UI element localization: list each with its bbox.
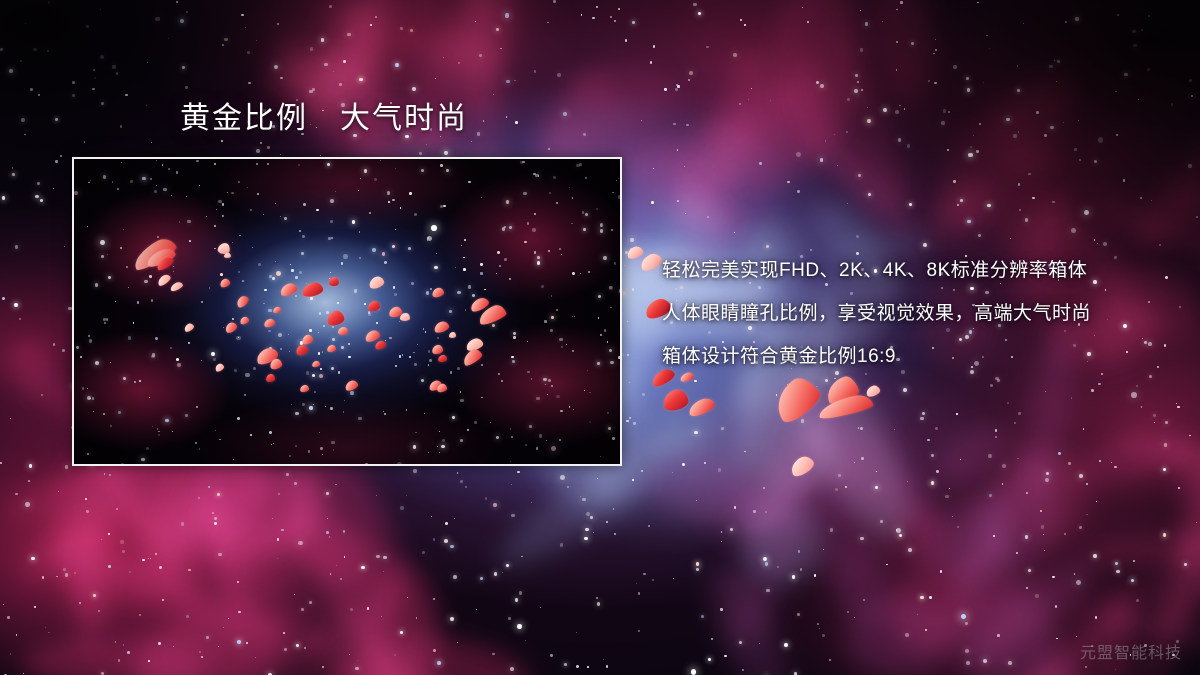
body-line-2: 人体眼睛瞳孔比例，享受视觉效果，高端大气时尚 [662, 292, 1152, 335]
body-text-block: 轻松完美实现FHD、2K、4K、8K标准分辨率箱体 人体眼睛瞳孔比例，享受视觉效… [662, 249, 1152, 378]
body-line-3: 箱体设计符合黄金比例16:9 [662, 335, 1152, 378]
watermark-label: 元盟智能科技 [1080, 639, 1182, 663]
body-line-1: 轻松完美实现FHD、2K、4K、8K标准分辨率箱体 [662, 249, 1152, 292]
presentation-slide: 黄金比例 大气时尚 轻松完美实现FHD、2K、4K、8K标准分辨率箱体 人体眼睛… [0, 0, 1200, 675]
